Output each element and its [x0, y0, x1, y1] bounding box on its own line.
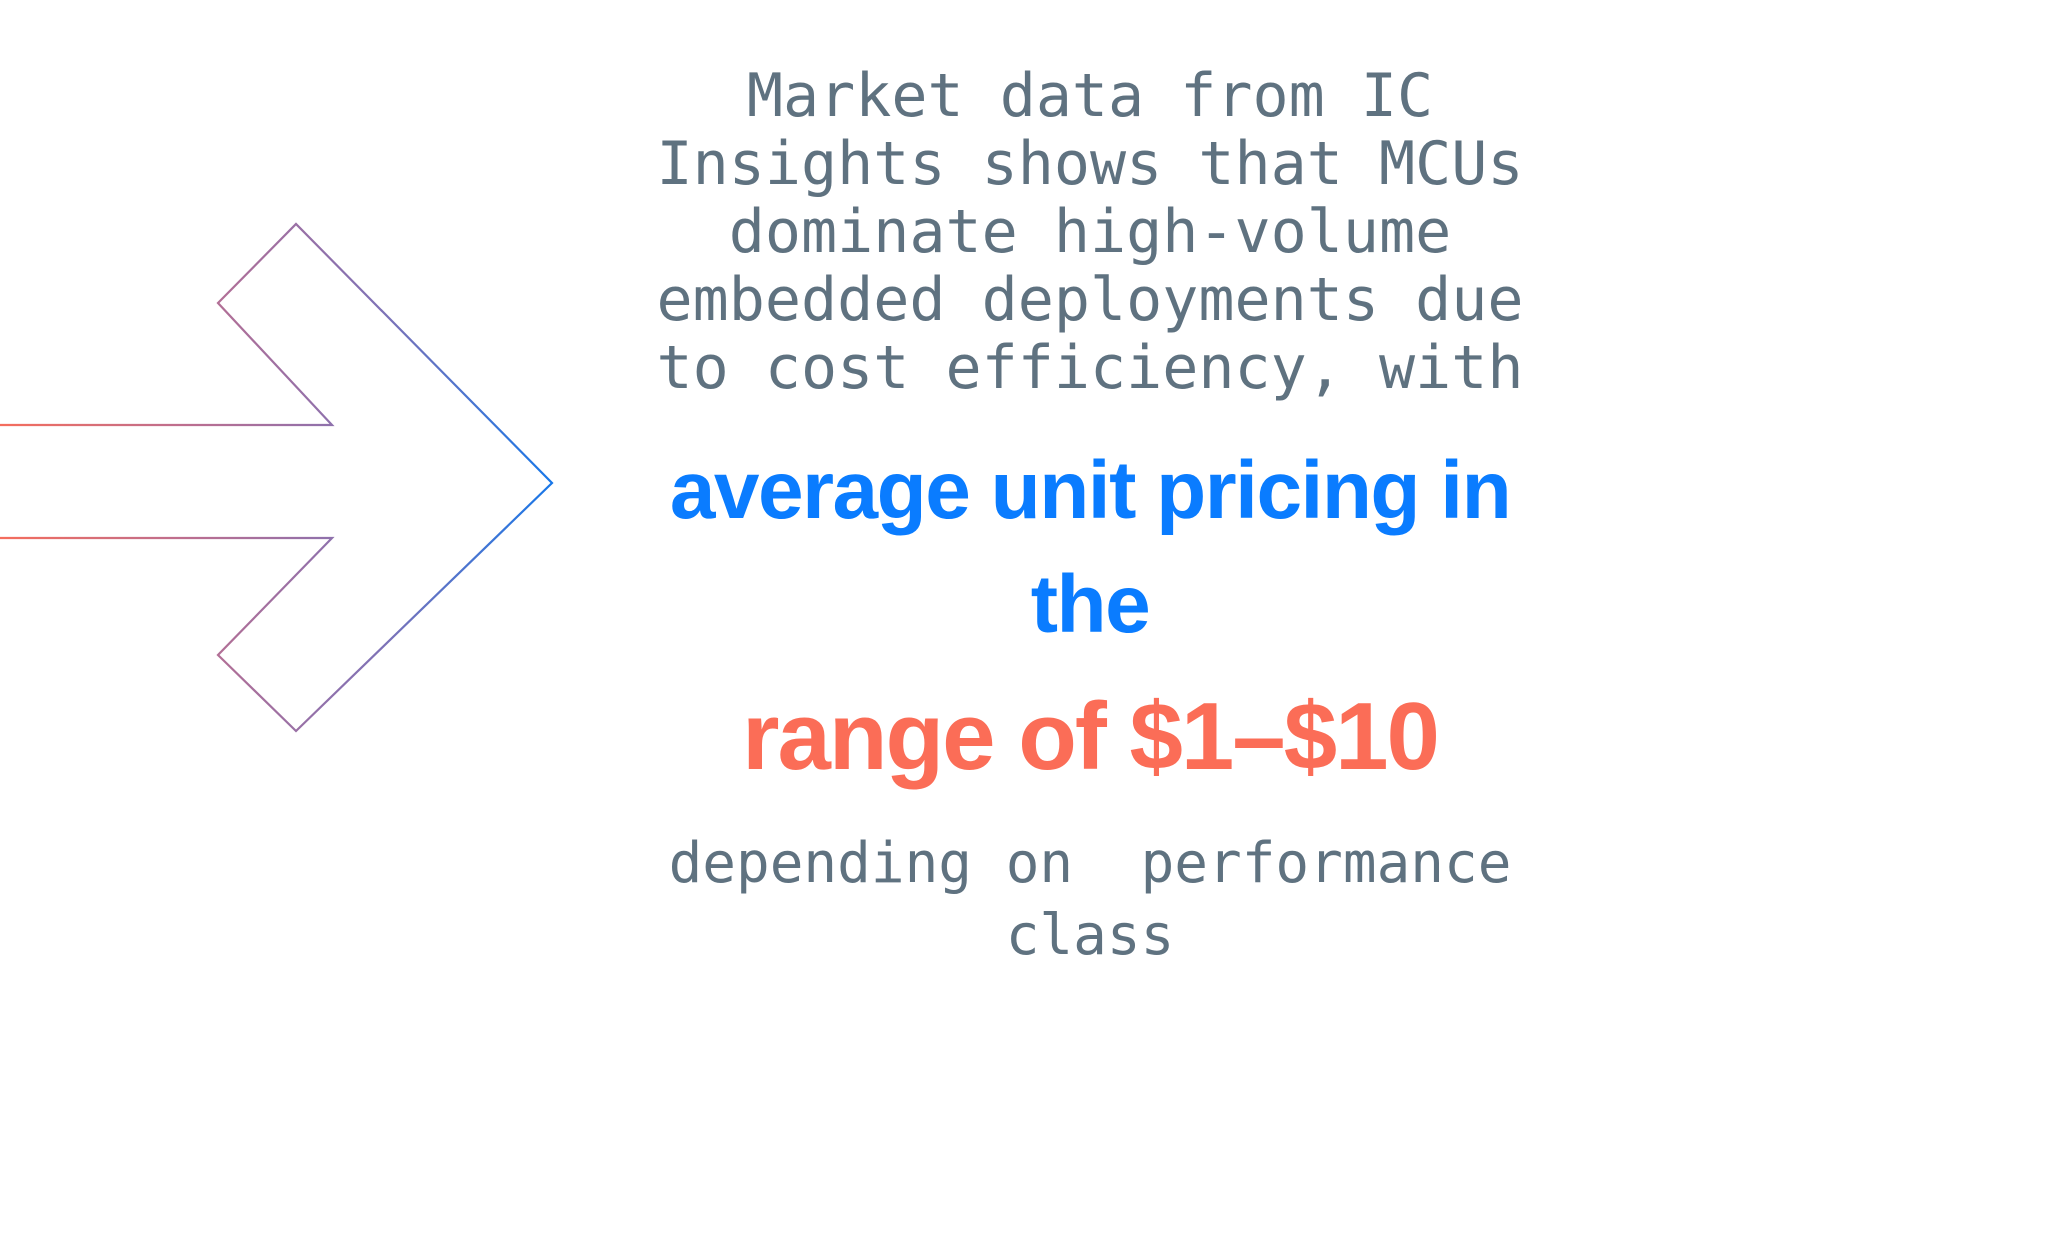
text-column: Market data from IC Insights shows that …: [620, 62, 1560, 1028]
highlight-primary-text: average unit pricing in the: [620, 434, 1560, 662]
outro-paragraph: depending on performance class: [620, 828, 1560, 972]
intro-paragraph: Market data from IC Insights shows that …: [620, 62, 1560, 402]
highlight-secondary-text: range of $1–$10: [620, 680, 1560, 794]
slide-canvas: Market data from IC Insights shows that …: [0, 0, 2048, 1255]
arrow-outline-path: [0, 224, 552, 731]
